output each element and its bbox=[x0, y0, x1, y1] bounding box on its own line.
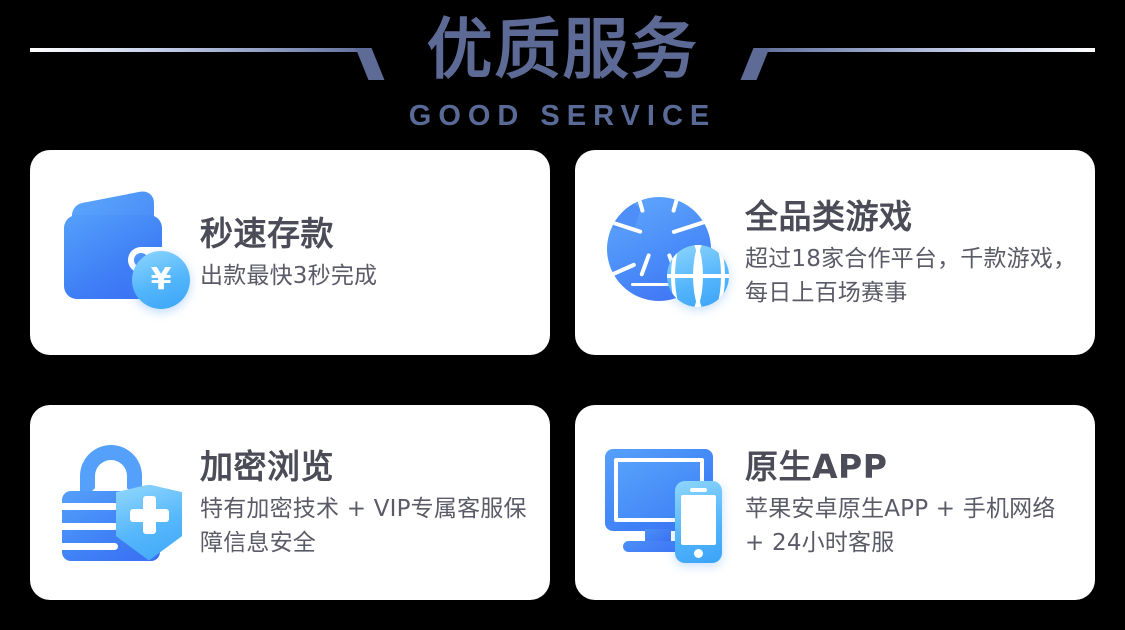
feature-card-deposit[interactable]: ¥ 秒速存款 出款最快3秒完成 bbox=[30, 150, 550, 355]
feature-card-title: 全品类游戏 bbox=[745, 196, 1081, 238]
soccer-seam bbox=[639, 252, 650, 276]
lock-slot-shape bbox=[62, 503, 118, 510]
soccer-seam bbox=[671, 219, 706, 233]
lock-slot-shape bbox=[62, 543, 118, 550]
cross-icon bbox=[130, 509, 169, 522]
feature-card-description: 特有加密技术 + VIP专属客服保障信息安全 bbox=[200, 492, 536, 560]
phone-home-button-shape bbox=[694, 549, 703, 558]
page-title: 优质服务 bbox=[0, 6, 1125, 94]
phone-speaker-shape bbox=[690, 488, 707, 492]
feature-card-title: 加密浏览 bbox=[200, 446, 536, 488]
soccer-seam bbox=[607, 262, 636, 279]
basketball-seam bbox=[693, 245, 725, 307]
sports-balls-icon bbox=[601, 189, 737, 317]
feature-card-text: 全品类游戏 超过18家合作平台，千款游戏，每日上百场赛事 bbox=[737, 196, 1095, 310]
feature-card-description: 苹果安卓原生APP + 手机网络 + 24小时客服 bbox=[745, 492, 1081, 560]
devices-icon bbox=[601, 439, 737, 567]
promo-banner: 优质服务 GOOD SERVICE ¥ 秒速存款 出款最快3秒完成 bbox=[0, 0, 1125, 630]
lock-slot-shape bbox=[62, 523, 118, 530]
banner-header: 优质服务 GOOD SERVICE bbox=[0, 0, 1125, 146]
feature-card-description: 出款最快3秒完成 bbox=[200, 259, 536, 293]
feature-card-title: 秒速存款 bbox=[200, 213, 536, 255]
wallet-icon: ¥ bbox=[56, 189, 192, 317]
feature-card-text: 原生APP 苹果安卓原生APP + 手机网络 + 24小时客服 bbox=[737, 446, 1095, 560]
phone-screen-shape bbox=[681, 495, 716, 545]
soccer-seam bbox=[671, 197, 679, 213]
basketball-icon bbox=[667, 245, 729, 307]
feature-card-title: 原生APP bbox=[745, 446, 1081, 488]
feature-card-text: 秒速存款 出款最快3秒完成 bbox=[192, 213, 550, 293]
feature-card-games[interactable]: 全品类游戏 超过18家合作平台，千款游戏，每日上百场赛事 bbox=[575, 150, 1095, 355]
feature-card-grid: ¥ 秒速存款 出款最快3秒完成 bbox=[30, 150, 1095, 600]
feature-card-text: 加密浏览 特有加密技术 + VIP专属客服保障信息安全 bbox=[192, 446, 550, 560]
feature-card-native-app[interactable]: 原生APP 苹果安卓原生APP + 手机网络 + 24小时客服 bbox=[575, 405, 1095, 600]
page-subtitle: GOOD SERVICE bbox=[0, 98, 1125, 134]
feature-card-encryption[interactable]: 加密浏览 特有加密技术 + VIP专属客服保障信息安全 bbox=[30, 405, 550, 600]
lock-shield-icon bbox=[56, 439, 192, 567]
yen-symbol: ¥ bbox=[132, 251, 190, 309]
feature-card-description: 超过18家合作平台，千款游戏，每日上百场赛事 bbox=[745, 242, 1081, 310]
